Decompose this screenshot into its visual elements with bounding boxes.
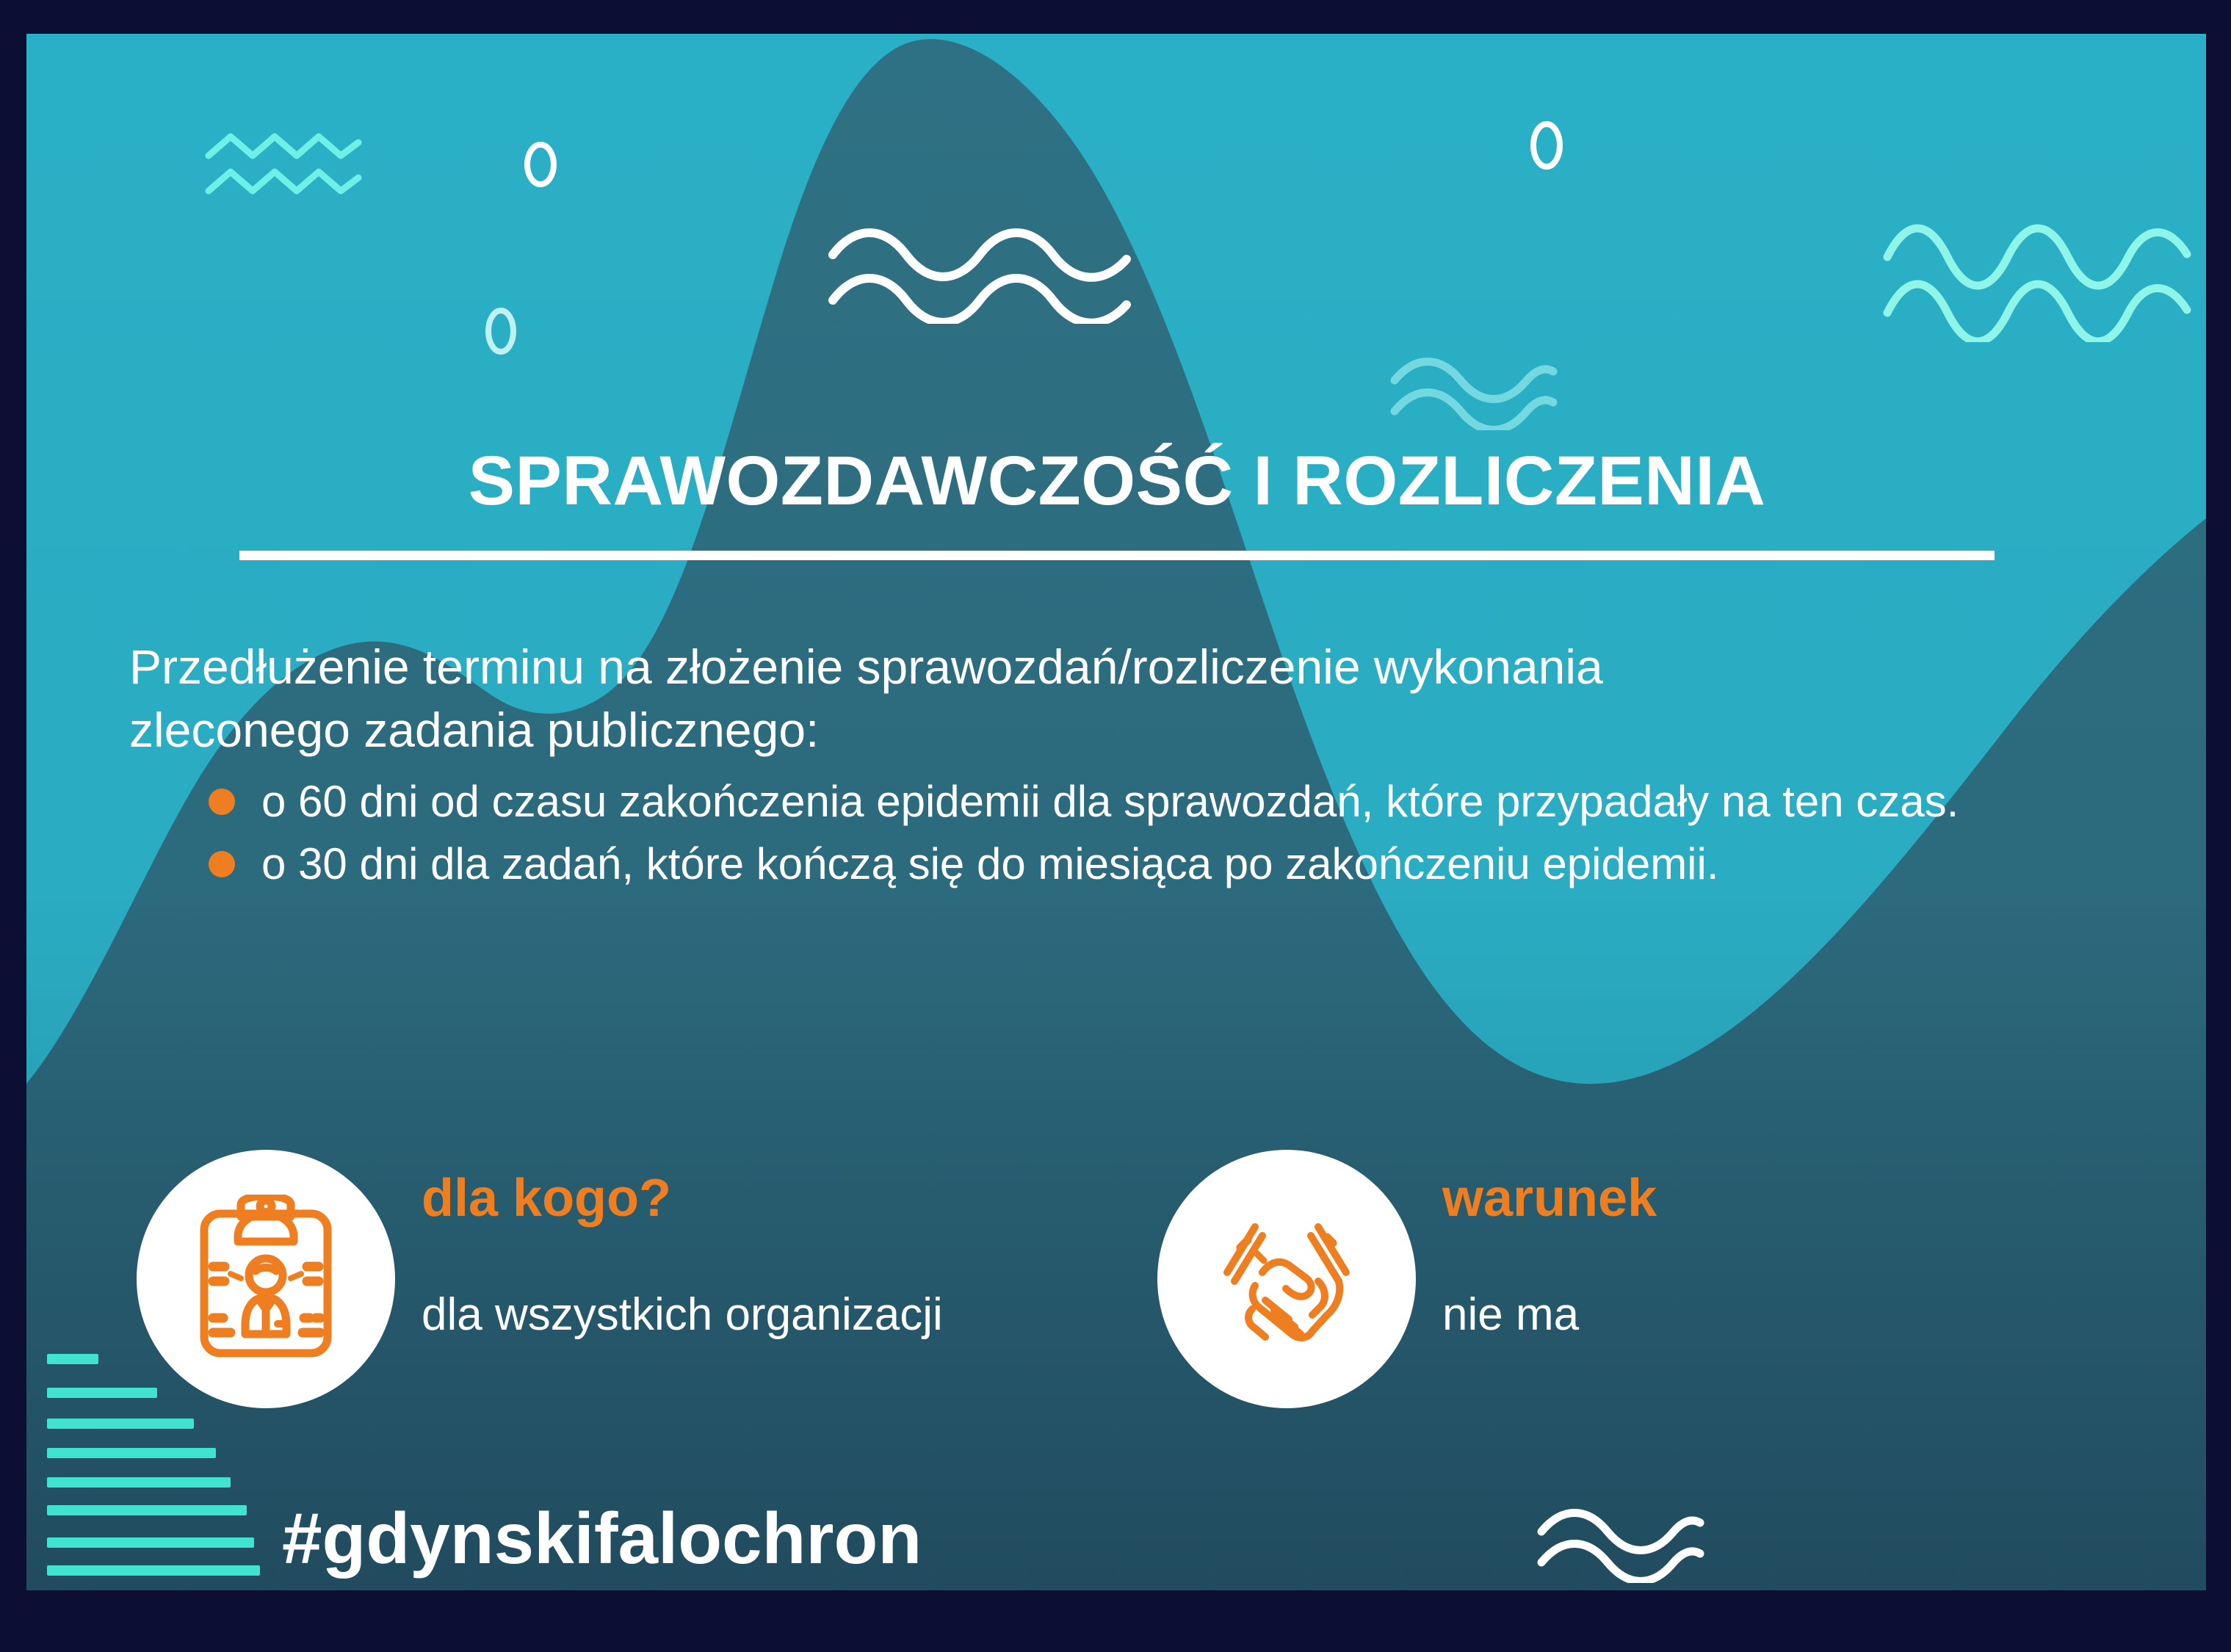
list-item: o 60 dni od czasu zakończenia epidemii d…: [209, 772, 2156, 831]
speed-line: [47, 1477, 231, 1488]
title-underline-rule: [239, 551, 1995, 560]
feature-text: dla kogo? dla wszystkich organizacji: [422, 1150, 943, 1338]
speed-line: [47, 1565, 260, 1576]
feature-badge-circle: [1157, 1150, 1416, 1408]
title-block: SPRAWOZDAWCZOŚĆ I ROZLICZENIA: [239, 445, 1995, 560]
intro-line-1: Przedłużenie terminu na złożenie sprawoz…: [129, 636, 2156, 699]
slide-canvas: SPRAWOZDAWCZOŚĆ I ROZLICZENIA Przedłużen…: [26, 34, 2206, 1590]
feature-heading: warunek: [1442, 1172, 1657, 1225]
feature-warunek: warunek nie ma: [1157, 1150, 1657, 1408]
feature-text: warunek nie ma: [1442, 1150, 1657, 1338]
feature-badge-circle: [137, 1150, 395, 1408]
feature-heading: dla kogo?: [422, 1172, 943, 1225]
handshake-icon: [1209, 1202, 1364, 1356]
feature-blocks: dla kogo? dla wszystkich organizacji: [26, 1150, 2206, 1458]
speed-line: [47, 1537, 254, 1548]
bullet-text: o 60 dni od czasu zakończenia epidemii d…: [261, 777, 1959, 826]
page-title: SPRAWOZDAWCZOŚĆ I ROZLICZENIA: [239, 445, 1995, 518]
bullet-dot-icon: [209, 851, 235, 877]
list-item: o 30 dni dla zadań, które kończą się do …: [209, 835, 2156, 894]
bullet-list: o 60 dni od czasu zakończenia epidemii d…: [129, 772, 2156, 894]
intro-line-2: zleconego zadania publicznego:: [129, 699, 2156, 762]
speed-line: [47, 1505, 247, 1515]
id-badge-icon: [192, 1195, 339, 1363]
feature-dla-kogo: dla kogo? dla wszystkich organizacji: [137, 1150, 943, 1408]
bullet-text: o 30 dni dla zadań, które kończą się do …: [261, 839, 1719, 888]
body-copy: Przedłużenie terminu na złożenie sprawoz…: [129, 636, 2156, 898]
bullet-dot-icon: [209, 789, 235, 815]
feature-value: dla wszystkich organizacji: [422, 1292, 943, 1338]
slide-frame: SPRAWOZDAWCZOŚĆ I ROZLICZENIA Przedłużen…: [0, 0, 2231, 1652]
feature-value: nie ma: [1442, 1292, 1657, 1338]
hashtag-label: #gdynskifalochron: [282, 1502, 922, 1574]
